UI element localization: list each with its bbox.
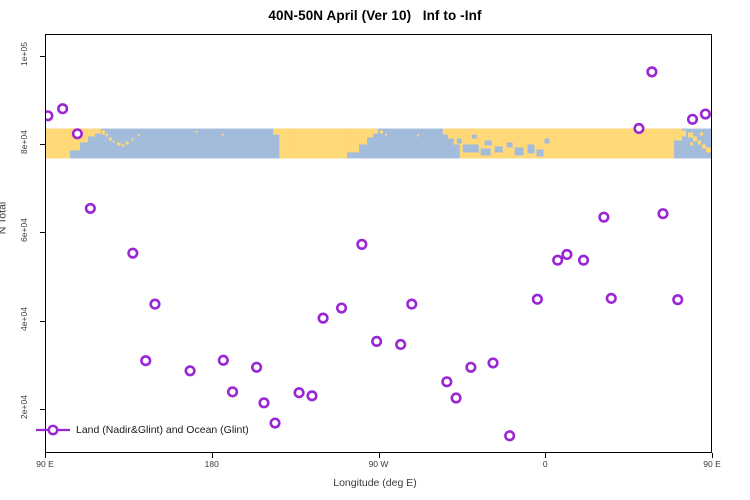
y-axis-label: N Total xyxy=(0,202,8,235)
data-point xyxy=(228,388,237,397)
x-tick-mark xyxy=(712,453,713,458)
x-tick-label: 0 xyxy=(543,459,548,469)
data-point xyxy=(252,363,261,372)
data-point xyxy=(553,256,562,265)
data-point xyxy=(129,249,138,258)
x-tick-mark xyxy=(212,453,213,458)
x-tick-label: 180 xyxy=(205,459,219,469)
y-tick-label: 6e+04 xyxy=(19,215,29,245)
x-tick-mark xyxy=(545,453,546,458)
data-point xyxy=(701,110,710,119)
x-axis-label: Longitude (deg E) xyxy=(0,477,750,489)
x-tick-label: 90 E xyxy=(703,459,721,469)
data-point xyxy=(563,250,572,259)
x-tick-label: 90 E xyxy=(36,459,54,469)
data-point xyxy=(533,295,542,304)
data-point xyxy=(295,388,304,397)
x-tick-mark xyxy=(379,453,380,458)
y-tick-label: 1e+05 xyxy=(19,39,29,69)
data-point xyxy=(659,209,668,218)
plot-panel xyxy=(45,34,712,453)
data-point xyxy=(73,129,82,138)
data-point xyxy=(271,419,280,428)
data-point xyxy=(505,431,514,440)
data-point xyxy=(600,213,609,222)
y-tick-label: 8e+04 xyxy=(19,127,29,157)
data-point xyxy=(358,240,367,249)
data-point xyxy=(407,300,416,309)
data-point xyxy=(579,256,588,265)
x-tick-label: 90 W xyxy=(369,459,389,469)
y-tick-mark xyxy=(40,321,45,322)
legend: Land (Nadir&Glint) and Ocean (Glint) xyxy=(36,423,249,437)
data-point xyxy=(186,367,195,376)
y-tick-mark xyxy=(40,409,45,410)
y-tick-label: 2e+04 xyxy=(19,392,29,422)
data-point xyxy=(219,356,228,365)
data-point xyxy=(86,204,95,213)
data-point xyxy=(396,340,405,349)
x-tick-mark xyxy=(45,453,46,458)
data-point xyxy=(635,124,644,133)
legend-label: Land (Nadir&Glint) and Ocean (Glint) xyxy=(76,424,249,436)
scatter-plot-figure: 40N-50N April (Ver 10) Inf to -Inf xyxy=(0,0,750,500)
data-point xyxy=(319,314,328,323)
data-point xyxy=(337,304,346,313)
data-point xyxy=(45,111,52,120)
markers-svg xyxy=(46,35,711,452)
y-tick-mark xyxy=(40,232,45,233)
data-point xyxy=(372,337,381,346)
data-point xyxy=(260,399,269,408)
data-point xyxy=(452,394,461,403)
data-point xyxy=(607,294,616,303)
data-point xyxy=(467,363,476,372)
data-point xyxy=(648,68,657,77)
legend-marker-icon xyxy=(36,423,70,437)
data-point xyxy=(673,295,682,304)
data-point xyxy=(58,104,67,113)
data-point xyxy=(489,359,498,368)
data-markers-layer xyxy=(46,35,711,452)
page-title: 40N-50N April (Ver 10) Inf to -Inf xyxy=(0,8,750,23)
data-point xyxy=(688,115,697,124)
data-point xyxy=(308,392,317,401)
data-point xyxy=(443,377,452,386)
data-point xyxy=(141,356,150,365)
y-tick-mark xyxy=(40,144,45,145)
data-point xyxy=(151,300,160,309)
y-tick-mark xyxy=(40,56,45,57)
y-tick-label: 4e+04 xyxy=(19,304,29,334)
